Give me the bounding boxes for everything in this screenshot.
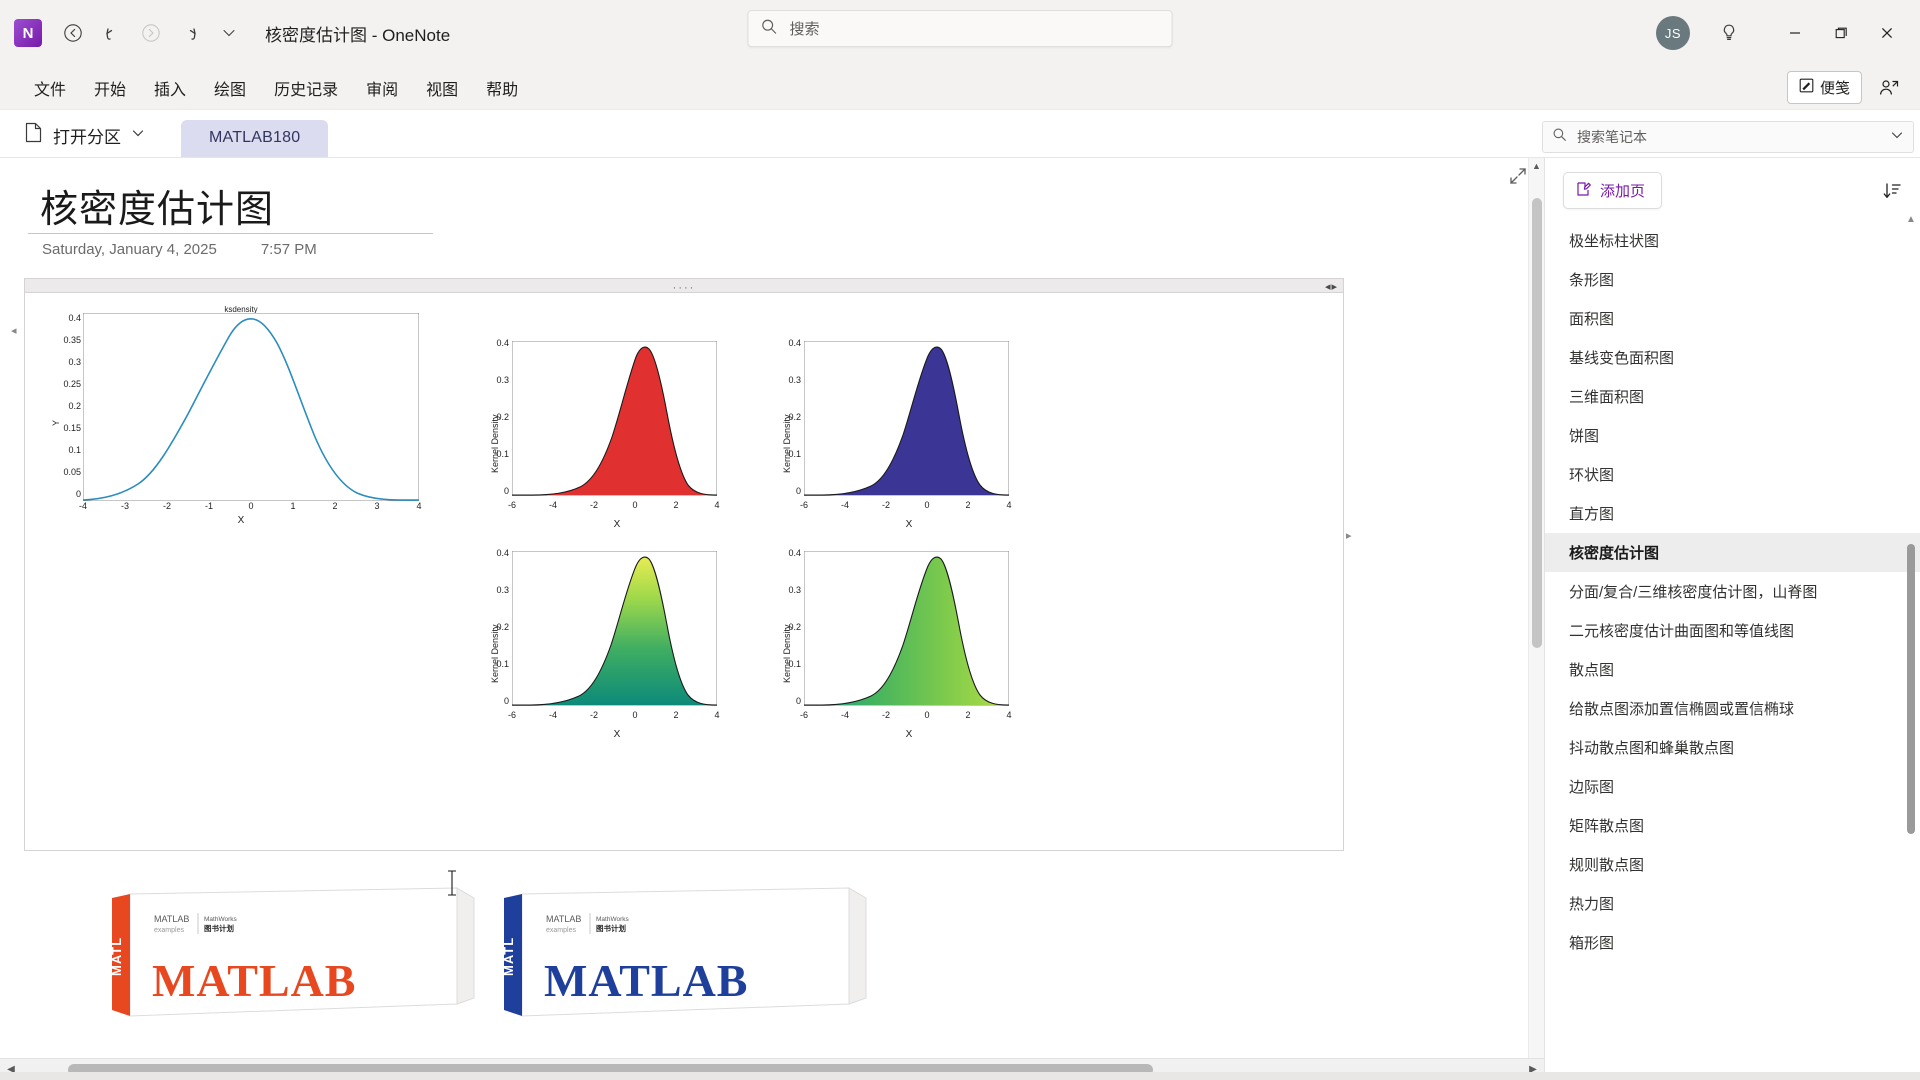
open-sections-label: 打开分区 — [53, 123, 121, 148]
chart-plot-area — [83, 313, 419, 501]
x-tick: 4 — [709, 500, 725, 510]
chart-kde-red: Kernel Density X 0.4 0.3 0.2 0.1 0 -6 -4… — [485, 333, 735, 538]
y-tick: 0.1 — [489, 659, 509, 669]
chevron-down-icon — [131, 125, 145, 145]
x-tick: -2 — [586, 710, 602, 720]
title-divider — [28, 233, 433, 234]
y-tick: 0.3 — [489, 585, 509, 595]
y-tick: 0.4 — [489, 338, 509, 348]
notebook-search-placeholder: 搜索笔记本 — [1577, 127, 1890, 147]
x-tick: -4 — [545, 500, 561, 510]
page-list[interactable]: 极坐标柱状图 条形图 面积图 基线变色面积图 三维面积图 饼图 环状图 直方图 … — [1545, 219, 1920, 1080]
user-avatar[interactable]: JS — [1656, 16, 1690, 50]
x-tick: 2 — [668, 710, 684, 720]
page-list-item[interactable]: 基线变色面积图 — [1545, 338, 1920, 377]
ribbon-tab-file[interactable]: 文件 — [20, 71, 80, 105]
page-list-item[interactable]: 三维面积图 — [1545, 377, 1920, 416]
chart-kde-gradient-horizontal: Kernel Density X 0.4 0.3 0.2 0.1 0 -6 -4… — [777, 543, 1027, 748]
x-tick: -6 — [796, 500, 812, 510]
page-list-item[interactable]: 抖动散点图和蜂巢散点图 — [1545, 728, 1920, 767]
x-tick: 0 — [627, 500, 643, 510]
lightbulb-icon[interactable] — [1712, 16, 1746, 50]
vertical-scroll-thumb[interactable] — [1532, 198, 1542, 648]
note-canvas-inner: 核密度估计图 Saturday, January 4, 2025 7:57 PM… — [0, 158, 1544, 1080]
chevron-down-icon[interactable] — [1890, 128, 1904, 147]
ribbon-tab-draw[interactable]: 绘图 — [200, 71, 260, 105]
page-timestamp: Saturday, January 4, 2025 7:57 PM — [42, 241, 317, 258]
title-bar: N 核密度估计图 - OneNote 搜索 JS — [0, 0, 1920, 66]
y-tick: 0.4 — [489, 548, 509, 558]
chart-plot-area — [804, 551, 1009, 706]
ribbon-tab-insert[interactable]: 插入 — [140, 71, 200, 105]
x-tick: 0 — [919, 710, 935, 720]
svg-text:MathWorks: MathWorks — [204, 916, 237, 923]
y-tick: 0.4 — [59, 313, 81, 323]
x-tick: 2 — [327, 501, 343, 511]
y-tick: 0.3 — [489, 375, 509, 385]
page-list-scroll-up-arrow[interactable]: ▲ — [1904, 214, 1918, 225]
x-tick: 0 — [243, 501, 259, 511]
x-tick: 2 — [960, 710, 976, 720]
x-tick: -4 — [75, 501, 91, 511]
x-tick: -6 — [796, 710, 812, 720]
ribbon-tab-help[interactable]: 帮助 — [472, 71, 532, 105]
x-tick: 2 — [960, 500, 976, 510]
x-tick: -2 — [878, 500, 894, 510]
matlab-wordmark: MATLAB — [152, 955, 357, 1006]
share-person-icon[interactable] — [1874, 73, 1904, 103]
x-tick: -2 — [586, 500, 602, 510]
sticky-notes-button[interactable]: 便笺 — [1787, 71, 1862, 104]
x-axis-label: X — [803, 729, 1015, 740]
y-axis-label: Kernel Density — [782, 414, 792, 473]
ribbon-tab-history[interactable]: 历史记录 — [260, 71, 352, 105]
page-list-item[interactable]: 分面/复合/三维核密度估计图，山脊图 — [1545, 572, 1920, 611]
x-tick: 1 — [285, 501, 301, 511]
x-axis-label: X — [803, 519, 1015, 530]
y-axis-label: Kernel Density — [782, 624, 792, 683]
x-tick: 0 — [919, 500, 935, 510]
y-tick: 0.1 — [781, 659, 801, 669]
add-page-label: 添加页 — [1600, 180, 1645, 201]
forward-arrow-icon — [134, 16, 168, 50]
page-date-text: Saturday, January 4, 2025 — [42, 241, 217, 258]
chart-ksdensity-line: ksdensity Y X 0.4 0.35 0.3 0.25 0.2 0.15… — [41, 301, 441, 531]
svg-text:MATLAB: MATLAB — [154, 914, 189, 924]
text-cursor — [446, 870, 458, 896]
add-page-button[interactable]: 添加页 — [1563, 172, 1662, 209]
onenote-app-icon: N — [14, 19, 42, 47]
y-tick: 0.1 — [781, 449, 801, 459]
y-axis-label: Kernel Density — [490, 624, 500, 683]
note-canvas[interactable]: 核密度估计图 Saturday, January 4, 2025 7:57 PM… — [0, 158, 1544, 1080]
search-icon — [761, 18, 778, 40]
ribbon-tab-review[interactable]: 审阅 — [352, 71, 412, 105]
matlab-box-orange: MATL MATLAB examples MathWorks 图书计划 MATL… — [102, 876, 492, 1026]
page-list-item[interactable]: 箱形图 — [1545, 923, 1920, 962]
notebook-search-input[interactable]: 搜索笔记本 — [1542, 121, 1914, 153]
svg-text:图书计划: 图书计划 — [596, 923, 626, 933]
minimize-button[interactable] — [1772, 11, 1818, 55]
svg-text:examples: examples — [546, 927, 576, 934]
matlab-spine-text: MATL — [501, 937, 516, 976]
x-tick: -4 — [545, 710, 561, 720]
chart-kde-gradient-vertical: Kernel Density X 0.4 0.3 0.2 0.1 0 -6 -4… — [485, 543, 735, 748]
page-icon — [24, 122, 43, 148]
x-tick: -4 — [837, 710, 853, 720]
y-tick: 0.05 — [59, 467, 81, 477]
object-left-grip[interactable]: ◂ — [11, 324, 18, 340]
y-tick: 0.15 — [59, 423, 81, 433]
y-tick: 0.2 — [489, 622, 509, 632]
customize-quick-access-icon[interactable] — [212, 16, 246, 50]
ribbon-right-cluster: 便笺 — [1787, 71, 1904, 104]
object-resize-arrows[interactable]: ◂▸ — [1325, 280, 1338, 293]
x-tick: 4 — [709, 710, 725, 720]
y-axis-label: Kernel Density — [490, 414, 500, 473]
sticky-note-icon — [1799, 78, 1814, 97]
page-list-item[interactable]: 条形图 — [1545, 260, 1920, 299]
document-title: 核密度估计图 - OneNote — [265, 21, 450, 46]
y-tick: 0.3 — [59, 357, 81, 367]
x-tick: -2 — [159, 501, 175, 511]
ribbon-menu-bar: 文件 开始 插入 绘图 历史记录 审阅 视图 帮助 便笺 — [0, 66, 1920, 110]
page-list-item[interactable]: 规则散点图 — [1545, 845, 1920, 884]
svg-text:MathWorks: MathWorks — [596, 916, 629, 923]
title-bar-right-cluster: JS — [1656, 11, 1910, 55]
y-tick: 0.4 — [781, 548, 801, 558]
y-tick: 0.4 — [781, 338, 801, 348]
x-tick: -6 — [504, 710, 520, 720]
taskbar-sliver — [0, 1072, 1920, 1080]
page-list-item[interactable]: 散点图 — [1545, 650, 1920, 689]
canvas-vertical-scrollbar[interactable]: ▲ — [1528, 158, 1544, 1058]
y-tick: 0 — [59, 489, 81, 499]
y-tick: 0.3 — [781, 585, 801, 595]
chart-kde-blue: Kernel Density X 0.4 0.3 0.2 0.1 0 -6 -4… — [777, 333, 1027, 538]
redo-icon[interactable] — [173, 16, 207, 50]
global-search-placeholder: 搜索 — [790, 18, 820, 39]
page-list-item-selected[interactable]: 核密度估计图 — [1545, 533, 1920, 572]
object-right-grip[interactable]: ▸ — [1346, 529, 1353, 545]
page-list-scrollbar[interactable]: ▲ — [1904, 214, 1918, 1080]
y-tick: 0.1 — [59, 445, 81, 455]
y-tick: 0.1 — [489, 449, 509, 459]
page-list-item[interactable]: 直方图 — [1545, 494, 1920, 533]
page-list-item[interactable]: 极坐标柱状图 — [1545, 221, 1920, 260]
sticky-notes-label: 便笺 — [1820, 77, 1850, 98]
matlab-box-blue: MATL MATLAB examples MathWorks 图书计划 MATL… — [494, 876, 884, 1026]
y-tick: 0 — [489, 486, 509, 496]
matlab-spine-text: MATL — [109, 937, 124, 976]
svg-text:examples: examples — [154, 927, 184, 934]
app-body: 核密度估计图 Saturday, January 4, 2025 7:57 PM… — [0, 158, 1920, 1080]
global-search-input[interactable]: 搜索 — [748, 10, 1173, 47]
chart-plot-area — [512, 551, 717, 706]
x-axis-label: X — [511, 519, 723, 530]
page-list-item[interactable]: 环状图 — [1545, 455, 1920, 494]
x-tick: 0 — [627, 710, 643, 720]
matlab-boxes-image[interactable]: MATL MATLAB examples MathWorks 图书计划 MATL… — [24, 876, 1344, 1080]
x-tick: 4 — [411, 501, 427, 511]
x-tick: 4 — [1001, 710, 1017, 720]
y-tick: 0.2 — [781, 622, 801, 632]
kde-chart-collage: ksdensity Y X 0.4 0.35 0.3 0.25 0.2 0.15… — [25, 293, 1343, 864]
y-tick: 0 — [781, 486, 801, 496]
object-handle-bar[interactable]: ···· ◂▸ — [25, 279, 1343, 293]
expand-diagonal-icon[interactable] — [1508, 166, 1530, 188]
scroll-up-arrow[interactable]: ▲ — [1529, 158, 1544, 174]
y-tick: 0 — [781, 696, 801, 706]
chart-plot-area — [804, 341, 1009, 496]
close-button[interactable] — [1864, 11, 1910, 55]
x-tick: -4 — [837, 500, 853, 510]
maximize-restore-button[interactable] — [1818, 11, 1864, 55]
open-sections-button[interactable]: 打开分区 — [24, 122, 145, 157]
svg-text:MATLAB: MATLAB — [546, 914, 581, 924]
page-time-text: 7:57 PM — [261, 241, 317, 258]
chart-plot-area — [512, 341, 717, 496]
page-title[interactable]: 核密度估计图 — [40, 178, 274, 233]
x-tick: -3 — [117, 501, 133, 511]
y-tick: 0.2 — [489, 412, 509, 422]
section-tab-bar: 打开分区 MATLAB180 搜索笔记本 — [0, 110, 1920, 158]
x-tick: 2 — [668, 500, 684, 510]
y-tick: 0.25 — [59, 379, 81, 389]
section-tab-matlab180[interactable]: MATLAB180 — [181, 120, 328, 157]
page-list-item[interactable]: 边际图 — [1545, 767, 1920, 806]
ribbon-tab-view[interactable]: 视图 — [412, 71, 472, 105]
page-list-item[interactable]: 面积图 — [1545, 299, 1920, 338]
page-panel-header: 添加页 — [1545, 158, 1920, 219]
svg-text:图书计划: 图书计划 — [204, 923, 234, 933]
page-list-item[interactable]: 给散点图添加置信椭圆或置信椭球 — [1545, 689, 1920, 728]
x-tick: -1 — [201, 501, 217, 511]
x-axis-label: X — [511, 729, 723, 740]
page-list-item[interactable]: 饼图 — [1545, 416, 1920, 455]
page-list-scroll-thumb[interactable] — [1907, 544, 1915, 834]
x-tick: -2 — [878, 710, 894, 720]
embedded-image-object[interactable]: ···· ◂▸ ◂ ▸ ksdensity Y X 0.4 0.35 0.3 — [24, 278, 1344, 851]
x-tick: 4 — [1001, 500, 1017, 510]
ribbon-tab-home[interactable]: 开始 — [80, 71, 140, 105]
x-tick: 3 — [369, 501, 385, 511]
search-icon — [1552, 127, 1567, 147]
y-tick: 0.2 — [59, 401, 81, 411]
page-list-panel: 添加页 极坐标柱状图 条形图 面积图 基线变色面积图 三维面积图 饼图 环状图 … — [1544, 158, 1920, 1080]
page-list-item[interactable]: 热力图 — [1545, 884, 1920, 923]
global-search-wrapper: 搜索 — [748, 10, 1173, 47]
x-tick: -6 — [504, 500, 520, 510]
page-list-item[interactable]: 二元核密度估计曲面图和等值线图 — [1545, 611, 1920, 650]
page-list-item[interactable]: 矩阵散点图 — [1545, 806, 1920, 845]
sort-descending-icon[interactable] — [1878, 177, 1906, 205]
y-tick: 0 — [489, 696, 509, 706]
edit-page-icon — [1576, 181, 1592, 201]
y-tick: 0.2 — [781, 412, 801, 422]
undo-icon[interactable] — [95, 16, 129, 50]
y-tick: 0.35 — [59, 335, 81, 345]
back-arrow-icon[interactable] — [56, 16, 90, 50]
x-axis-label: X — [41, 515, 441, 526]
matlab-wordmark: MATLAB — [544, 955, 749, 1006]
y-tick: 0.3 — [781, 375, 801, 385]
notebook-search-wrapper: 搜索笔记本 — [1542, 121, 1914, 157]
